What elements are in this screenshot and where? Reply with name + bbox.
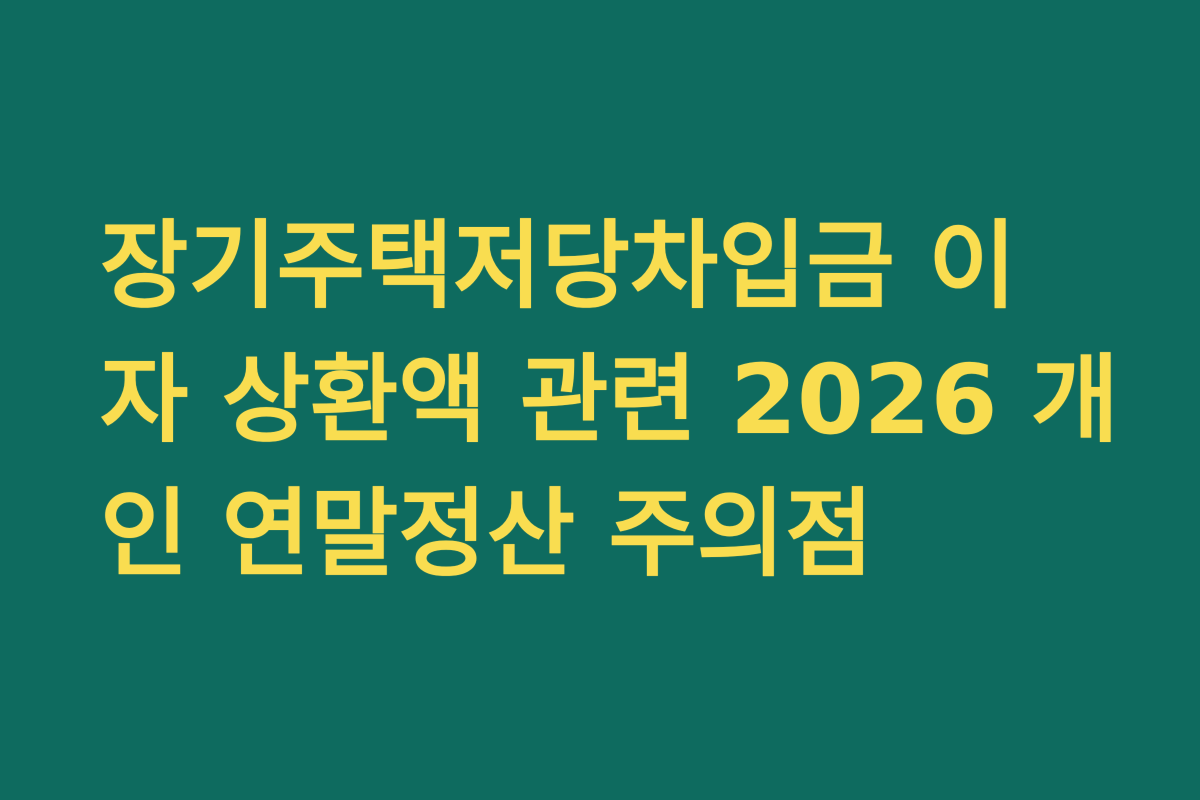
- page-title: 장기주택저당차입금 이 자 상환액 관련 2026 개 인 연말정산 주의점: [100, 199, 1100, 601]
- title-line-3: 인 연말정산 주의점: [100, 467, 1100, 601]
- title-line-1: 장기주택저당차입금 이: [100, 199, 1100, 333]
- title-line-2: 자 상환액 관련 2026 개: [100, 333, 1100, 467]
- title-banner: 장기주택저당차입금 이 자 상환액 관련 2026 개 인 연말정산 주의점: [0, 0, 1200, 800]
